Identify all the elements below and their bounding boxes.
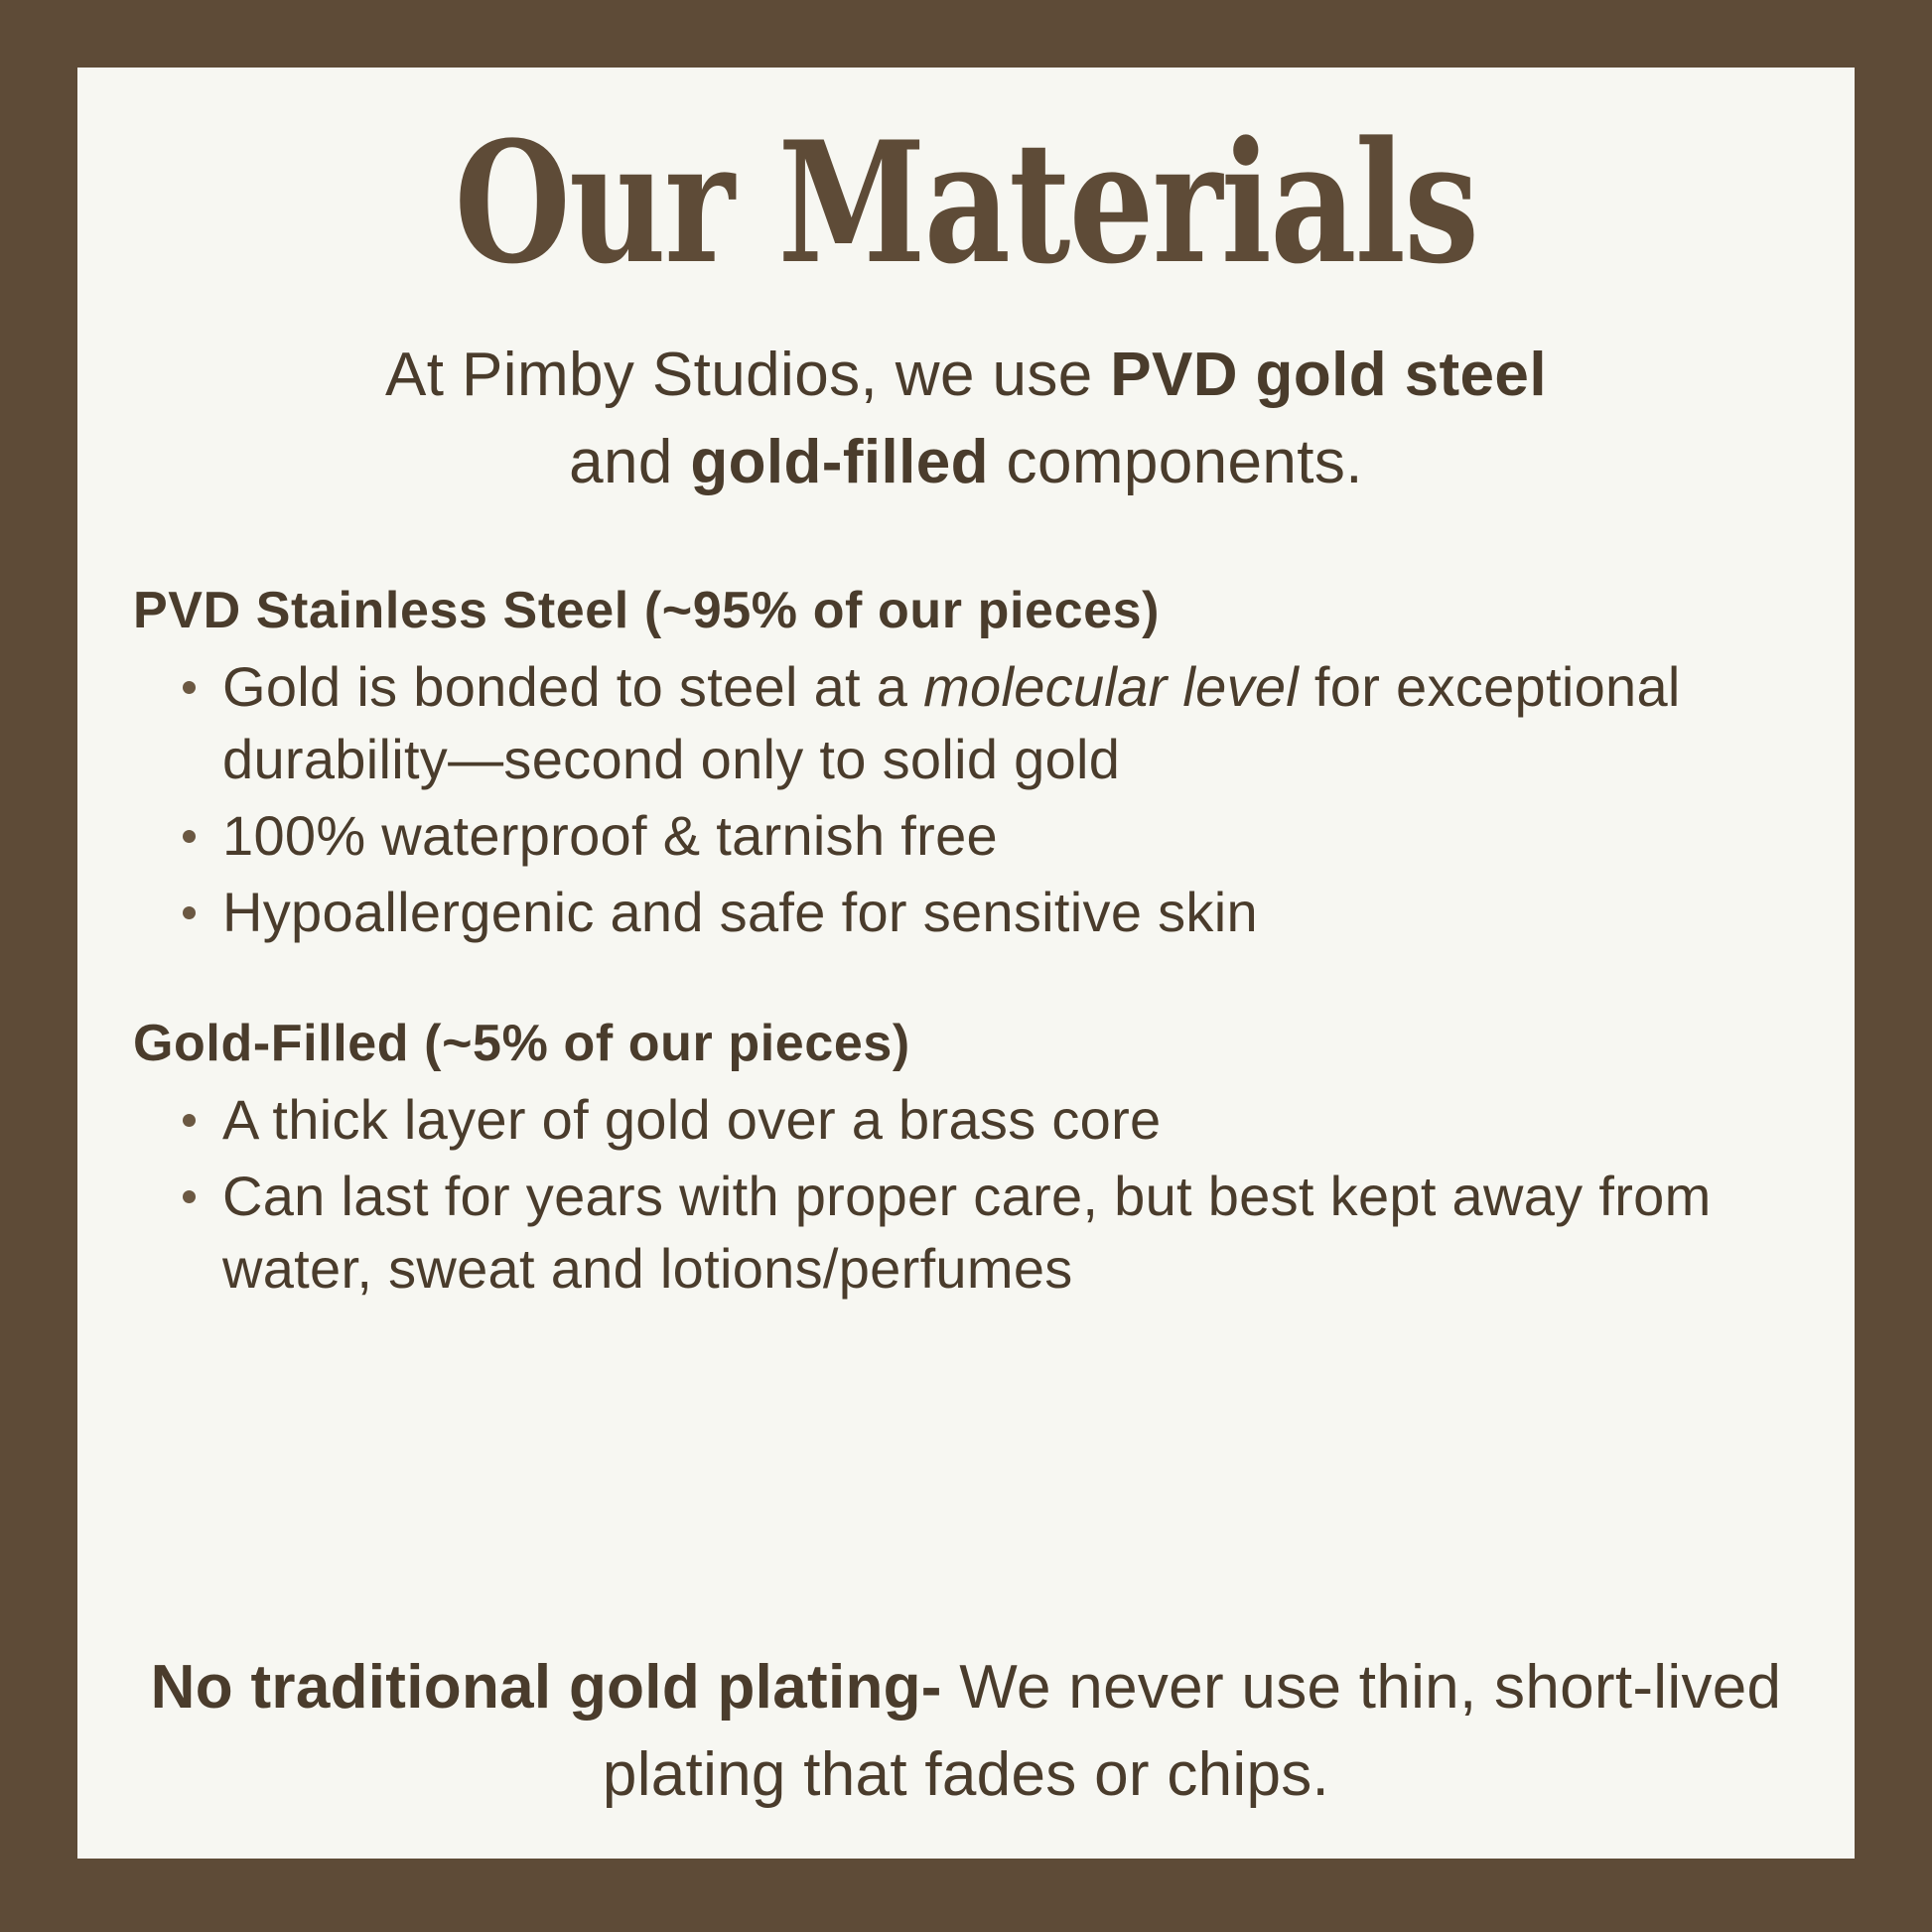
bullet-list-gold-filled: A thick layer of gold over a brass core … (133, 1084, 1799, 1305)
poster-frame: Our Materials At Pimby Studios, we use P… (0, 0, 1932, 1932)
bullet-list-pvd: Gold is bonded to steel at a molecular l… (133, 651, 1799, 948)
layout-spacer (133, 1368, 1799, 1588)
intro-line1-text: At Pimby Studios, we use (385, 341, 1110, 409)
intro-line1-emphasis: PVD gold steel (1110, 341, 1547, 409)
list-item: Hypoallergenic and safe for sensitive sk… (181, 877, 1799, 949)
bullet-text-pre: 100% waterproof & tarnish free (222, 804, 998, 867)
section-pvd-stainless-steel: PVD Stainless Steel (~95% of our pieces)… (133, 580, 1799, 949)
section-heading-gold-filled: Gold-Filled (~5% of our pieces) (133, 1013, 1799, 1074)
bullet-dot-icon (183, 681, 196, 694)
bullet-dot-icon (183, 1114, 196, 1127)
bullet-dot-icon (183, 830, 196, 843)
bullet-text-pre: Gold is bonded to steel at a (222, 655, 923, 718)
list-item: Gold is bonded to steel at a molecular l… (181, 651, 1799, 796)
materials-sections: PVD Stainless Steel (~95% of our pieces)… (133, 580, 1799, 1368)
bullet-text-italic: molecular level (923, 655, 1299, 718)
bullet-dot-icon (183, 1190, 196, 1203)
list-item: 100% waterproof & tarnish free (181, 800, 1799, 873)
intro-line2-emphasis: gold-filled (690, 428, 989, 496)
bullet-text-pre: A thick layer of gold over a brass core (222, 1088, 1162, 1151)
bullet-dot-icon (183, 906, 196, 919)
content-panel: Our Materials At Pimby Studios, we use P… (77, 68, 1855, 1859)
closing-emphasis: No traditional gold plating- (151, 1653, 942, 1722)
intro-line2-text: and (569, 428, 690, 496)
page-title: Our Materials (300, 119, 1632, 286)
list-item: A thick layer of gold over a brass core (181, 1084, 1799, 1157)
bullet-text-pre: Hypoallergenic and safe for sensitive sk… (222, 881, 1258, 943)
list-item: Can last for years with proper care, but… (181, 1161, 1799, 1306)
section-gold-filled: Gold-Filled (~5% of our pieces) A thick … (133, 1013, 1799, 1306)
bullet-text-pre: Can last for years with proper care, but… (222, 1165, 1712, 1300)
section-heading-pvd: PVD Stainless Steel (~95% of our pieces) (133, 580, 1799, 641)
intro-paragraph: At Pimby Studios, we use PVD gold steel … (159, 332, 1773, 506)
intro-line2-tail: components. (989, 428, 1363, 496)
closing-statement: No traditional gold plating- We never us… (143, 1644, 1789, 1819)
